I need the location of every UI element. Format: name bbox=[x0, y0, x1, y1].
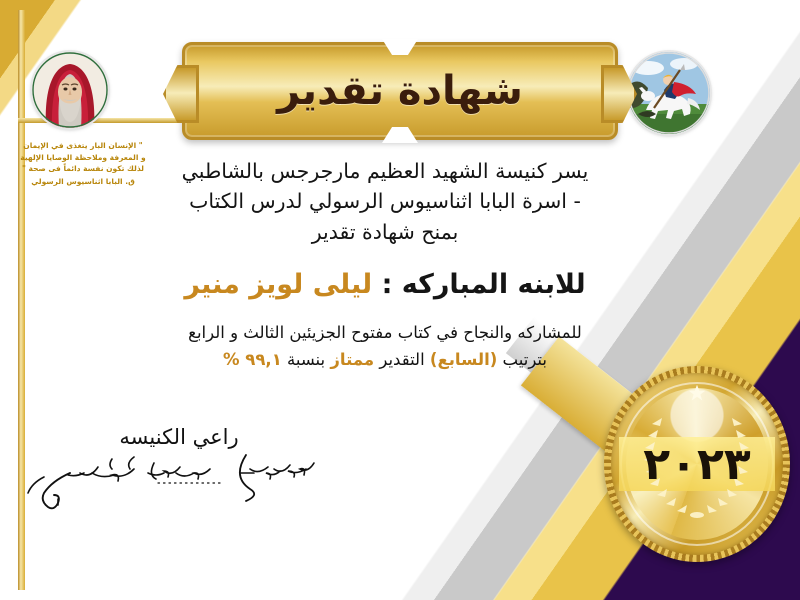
body-line-2: - اسرة البابا اثناسيوس الرسولي لدرس الكت… bbox=[120, 186, 650, 216]
portrait-circle-left bbox=[32, 52, 108, 128]
pope-athanasius-portrait bbox=[32, 52, 108, 128]
recipient-name: ليلى لويز منير bbox=[184, 269, 372, 300]
certificate-body: يسر كنيسة الشهيد العظيم مارجرجس بالشاطبي… bbox=[120, 156, 650, 374]
year-seal: ٢٠٢٣ bbox=[604, 366, 790, 562]
grade-label: التقدير bbox=[379, 350, 424, 369]
grade-value: ممتاز bbox=[330, 350, 374, 369]
percent-value: ٩٩,١ % bbox=[223, 350, 282, 369]
signature-area: راعي الكنيسه bbox=[14, 425, 344, 513]
saint-george-portrait bbox=[628, 52, 710, 134]
seal-year: ٢٠٢٣ bbox=[604, 366, 790, 562]
reason-line: للمشاركه والنجاح في كتاب مفتوح الجزيئين … bbox=[120, 320, 650, 347]
page-title: شهادة تقدير bbox=[182, 42, 618, 140]
reason-block: للمشاركه والنجاح في كتاب مفتوح الجزيئين … bbox=[120, 320, 650, 373]
percent-label: بنسبة bbox=[287, 350, 325, 369]
certificate-canvas: " الإنسان البار يتغذى في الإيمان و المعر… bbox=[0, 0, 800, 600]
rank-prefix: بترتيب bbox=[503, 350, 547, 369]
handwritten-signature-icon bbox=[14, 443, 344, 513]
body-line-3: بمنح شهادة تقدير bbox=[120, 217, 650, 247]
rank-value: (السابع) bbox=[430, 350, 497, 369]
pope-athanasius-icon bbox=[32, 52, 108, 128]
title-plaque: شهادة تقدير bbox=[182, 42, 618, 140]
recipient-line: للابنه المباركه : ليلى لويز منير bbox=[120, 267, 650, 302]
rank-grade-line: بترتيب (السابع) التقدير ممتاز بنسبة ٩٩,١… bbox=[120, 347, 650, 374]
portrait-circle-right bbox=[628, 52, 710, 134]
body-line-1: يسر كنيسة الشهيد العظيم مارجرجس بالشاطبي bbox=[120, 156, 650, 186]
recipient-label: للابنه المباركه : bbox=[382, 269, 586, 300]
saint-george-icon bbox=[628, 52, 710, 134]
quote-line-1: " الإنسان البار يتغذى في الإيمان bbox=[23, 141, 142, 150]
